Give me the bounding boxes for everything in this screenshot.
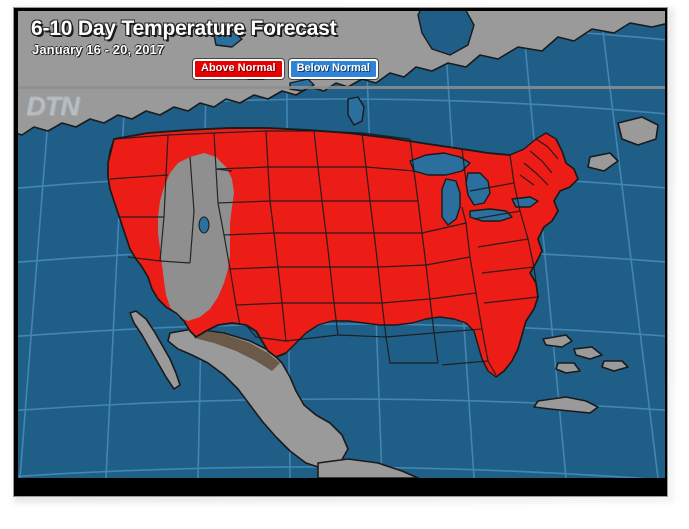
page-title: 6-10 Day Temperature Forecast <box>31 17 336 41</box>
great-salt-lake <box>199 217 209 233</box>
map-canvas: DTN 6-10 Day Temperature Forecast Januar… <box>18 11 665 478</box>
forecast-date-range: January 16 - 20, 2017 <box>32 42 164 57</box>
page-frame: DTN 6-10 Day Temperature Forecast Januar… <box>0 0 689 529</box>
legend-above-normal-badge[interactable]: Above Normal <box>193 59 284 79</box>
header-divider-line <box>18 86 665 89</box>
weather-map-image: DTN 6-10 Day Temperature Forecast Januar… <box>13 7 668 497</box>
map-legend: Above Normal Below Normal <box>193 59 378 79</box>
legend-below-normal-badge[interactable]: Below Normal <box>289 59 378 79</box>
bottom-black-band <box>14 478 668 497</box>
north-america-map-graphic <box>18 11 665 478</box>
